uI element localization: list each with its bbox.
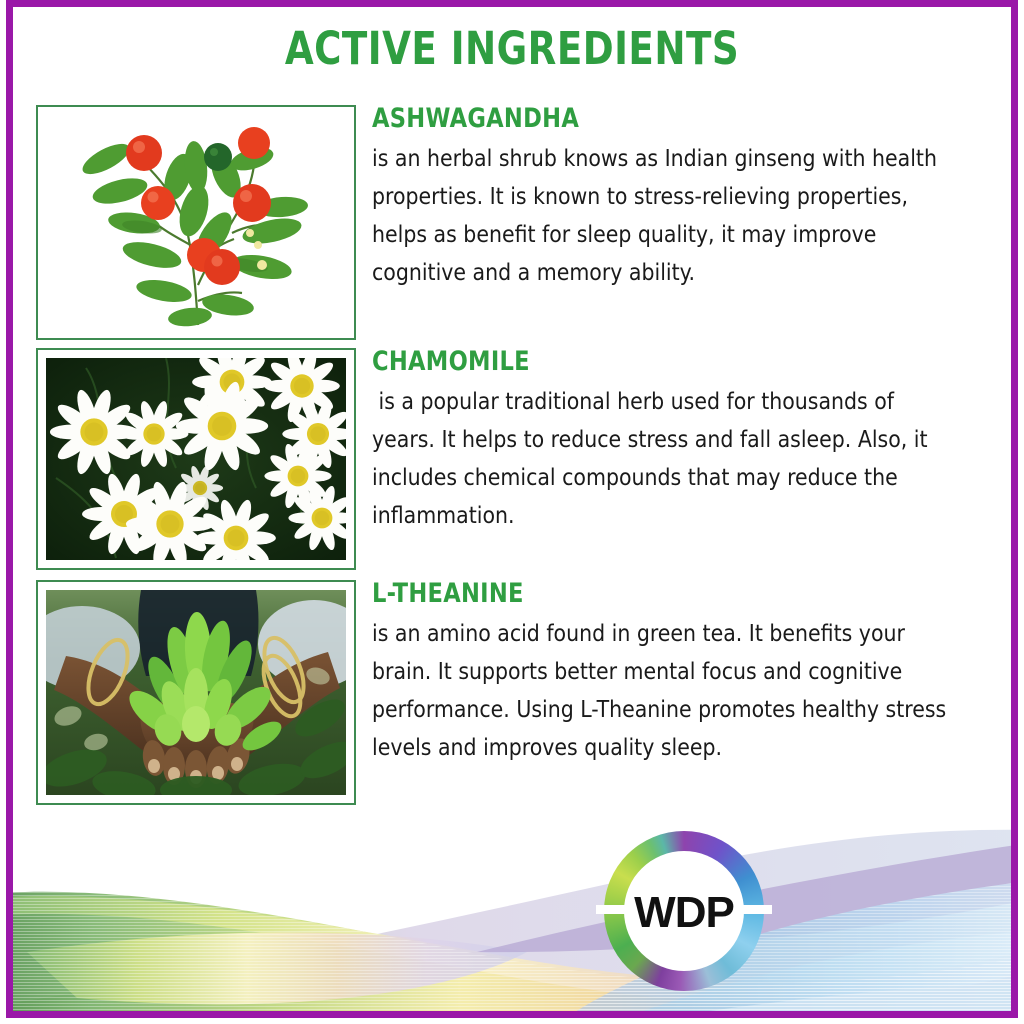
ashwagandha-illustration [46,115,346,330]
wave-svg [7,802,1017,1017]
ingredient-heading: L-THEANINE [372,580,936,608]
chamomile-flowers-photo [36,348,356,570]
ingredient-text: CHAMOMILE is a popular traditional herb … [372,348,978,534]
chamomile-illustration [46,358,346,560]
decorative-wave-graphic [7,802,1017,1017]
ingredient-text: L-THEANINE is an amino acid found in gre… [372,580,978,766]
ingredient-description: is an amino acid found in green tea. It … [372,614,960,766]
ingredient-row: CHAMOMILE is a popular traditional herb … [36,348,988,570]
ingredient-text: ASHWAGANDHA is an herbal shrub knows as … [372,105,978,291]
ingredient-row: ASHWAGANDHA is an herbal shrub knows as … [36,105,988,340]
poster-canvas: ACTIVE INGREDIENTS [0,0,1024,1024]
ingredient-heading: ASHWAGANDHA [372,105,936,133]
tea-leaves-illustration [46,590,346,795]
page-title: ACTIVE INGREDIENTS [41,22,983,75]
ingredient-description: is a popular traditional herb used for t… [372,382,960,534]
wdp-logo: WDP [604,831,764,991]
green-tea-leaves-photo [36,580,356,805]
ingredient-heading: CHAMOMILE [372,348,936,376]
logo-wordmark: WDP [604,888,764,938]
ingredient-row: L-THEANINE is an amino acid found in gre… [36,580,988,805]
ingredient-description: is an herbal shrub knows as Indian ginse… [372,139,960,291]
ashwagandha-plant-photo [36,105,356,340]
